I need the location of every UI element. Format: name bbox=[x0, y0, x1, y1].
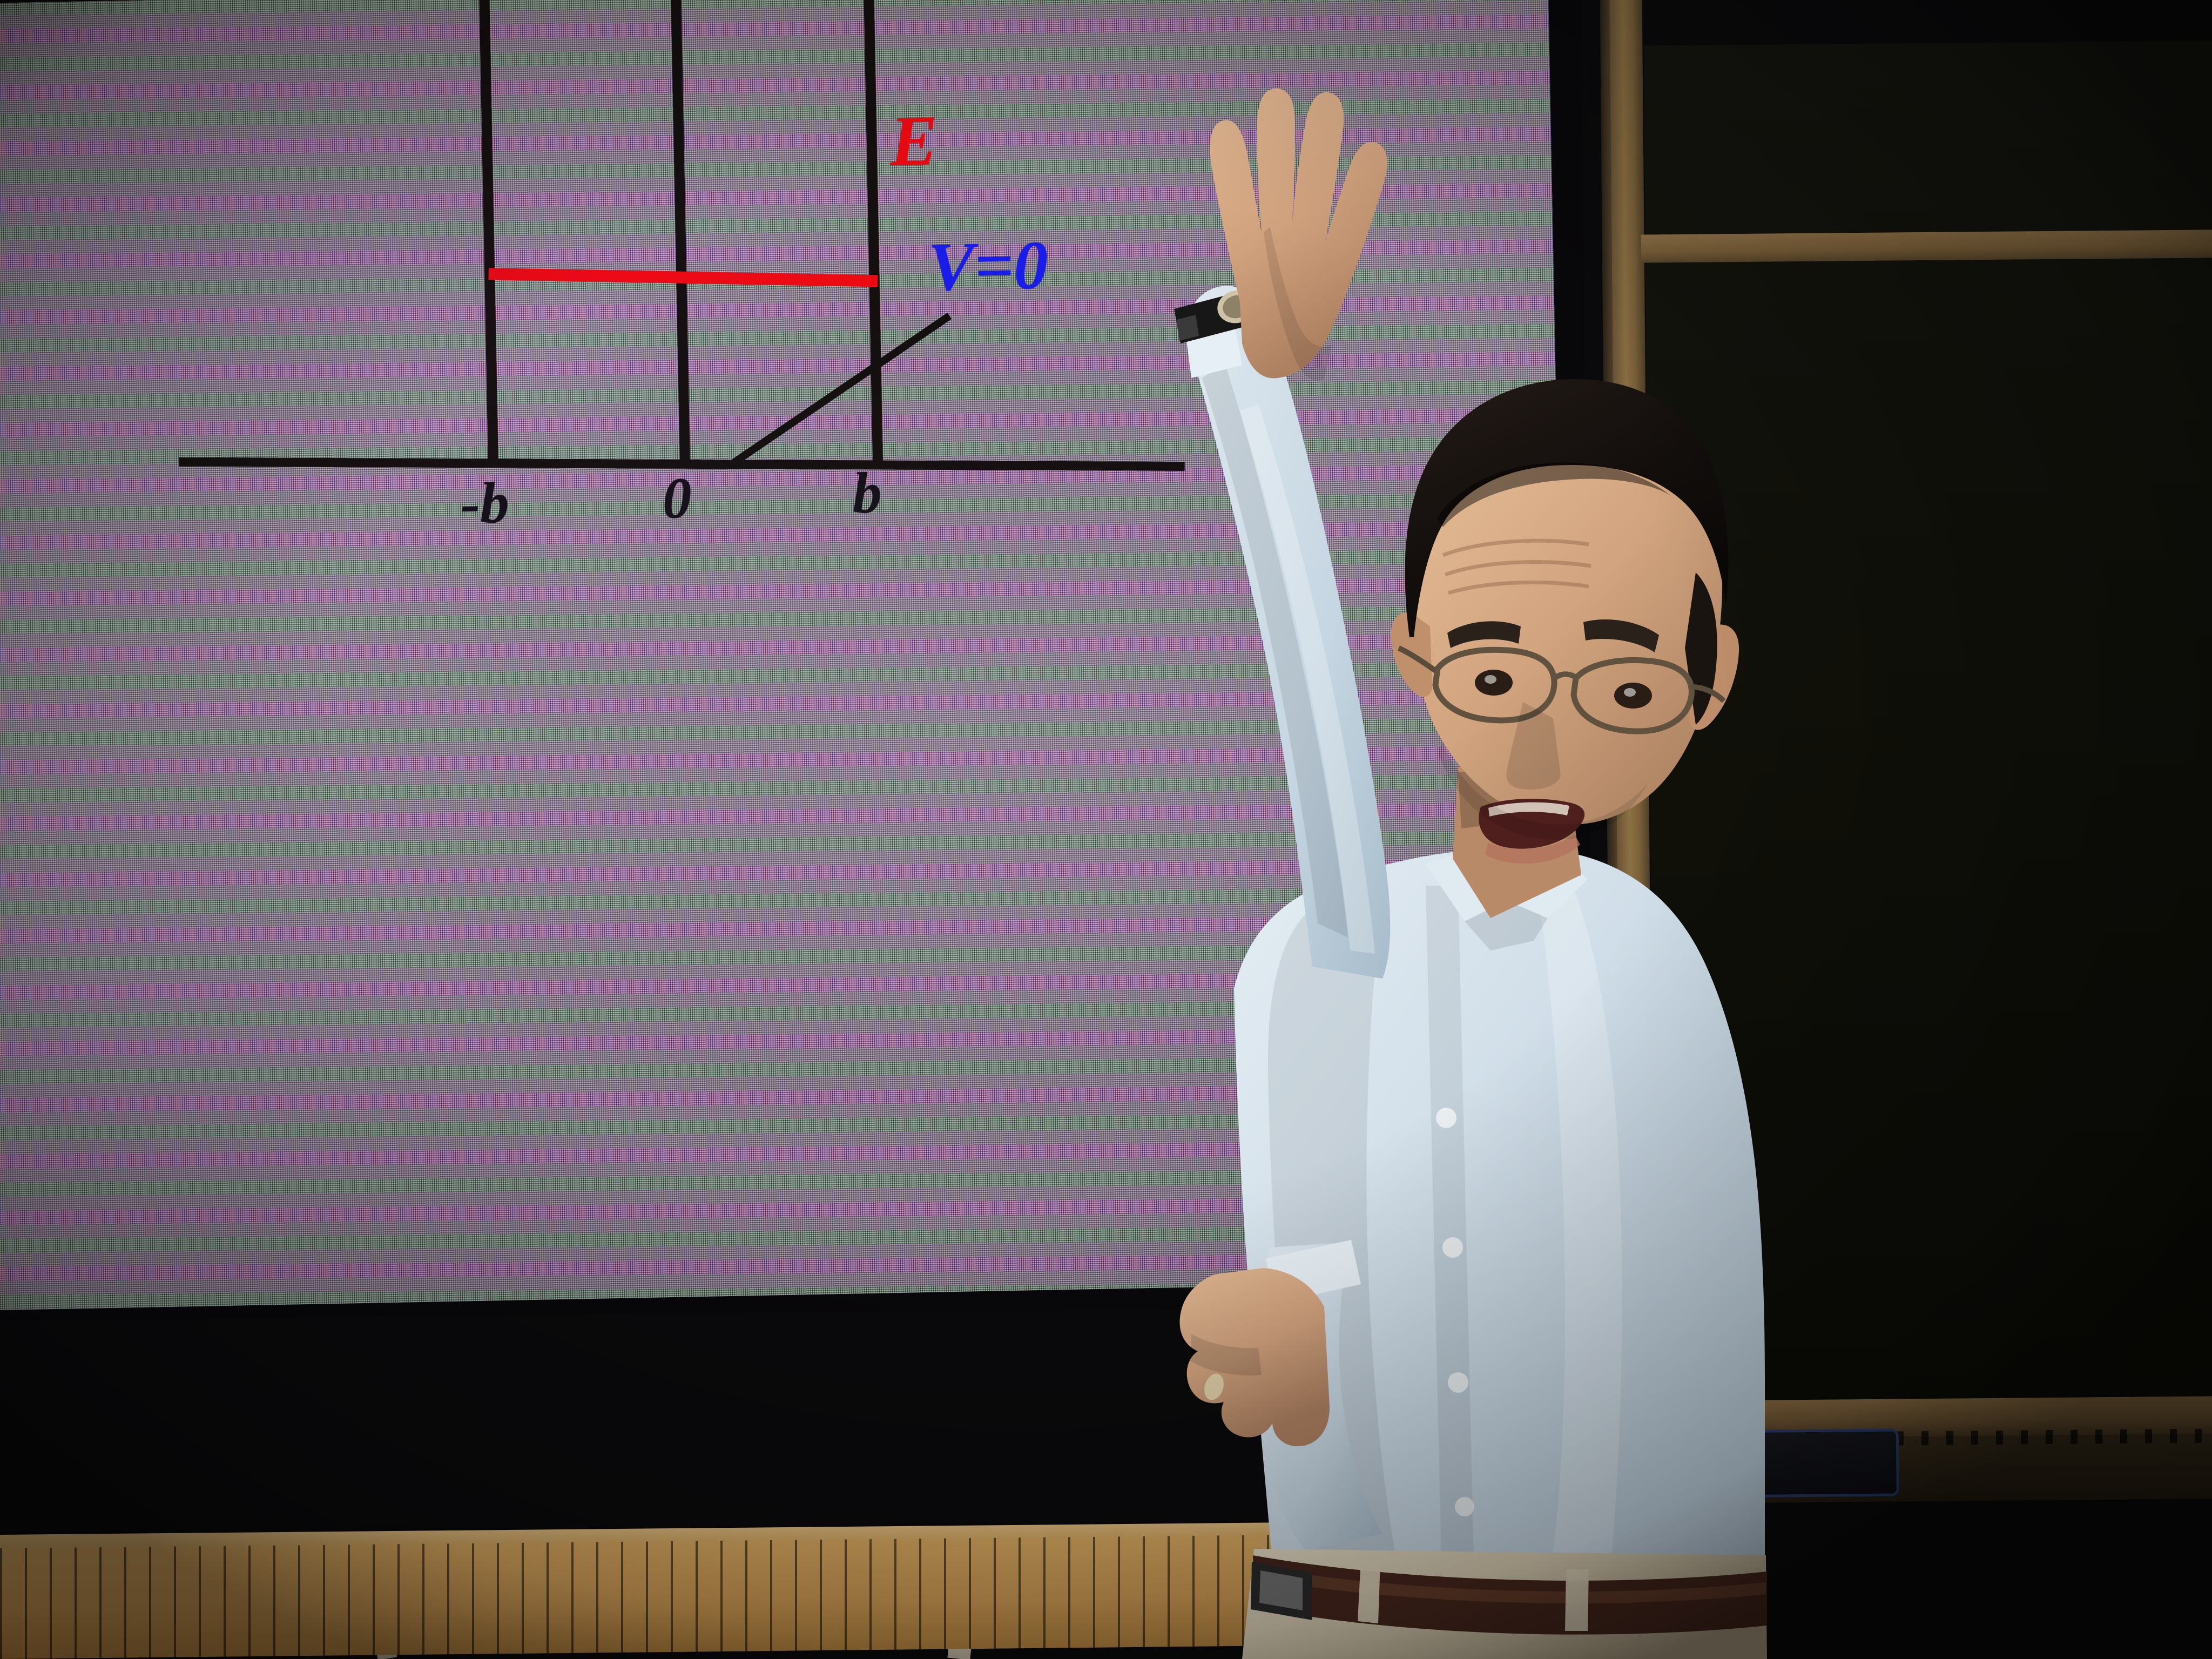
projector-screen-frame: -b 0 b E V=0 bbox=[0, 0, 1594, 1320]
diagram-wall-b bbox=[868, 0, 878, 467]
projector-screen: -b 0 b E V=0 bbox=[0, 0, 1573, 1310]
slide-diagram: -b 0 b E V=0 bbox=[0, 0, 1573, 1310]
diagram-label-zero: 0 bbox=[662, 469, 692, 528]
tray-perforations bbox=[1872, 1428, 2212, 1446]
lecture-hall-photo: -b 0 b E V=0 bbox=[0, 0, 2212, 1659]
diagram-label-minus-b: -b bbox=[460, 474, 510, 534]
wall-paneling bbox=[0, 1530, 1685, 1659]
diagram-label-potential: V=0 bbox=[927, 230, 1049, 301]
diagram-axis-zero bbox=[675, 0, 685, 466]
blackboard-rail-horizontal bbox=[1641, 230, 2212, 263]
diagram-label-b: b bbox=[852, 464, 882, 523]
diagram-wall-minus-b bbox=[484, 0, 494, 464]
diagram-label-energy: E bbox=[889, 105, 939, 177]
diagram-potential-ramp bbox=[727, 316, 952, 466]
eraser[interactable] bbox=[1688, 1428, 1899, 1498]
blackboard bbox=[1600, 0, 2212, 1547]
